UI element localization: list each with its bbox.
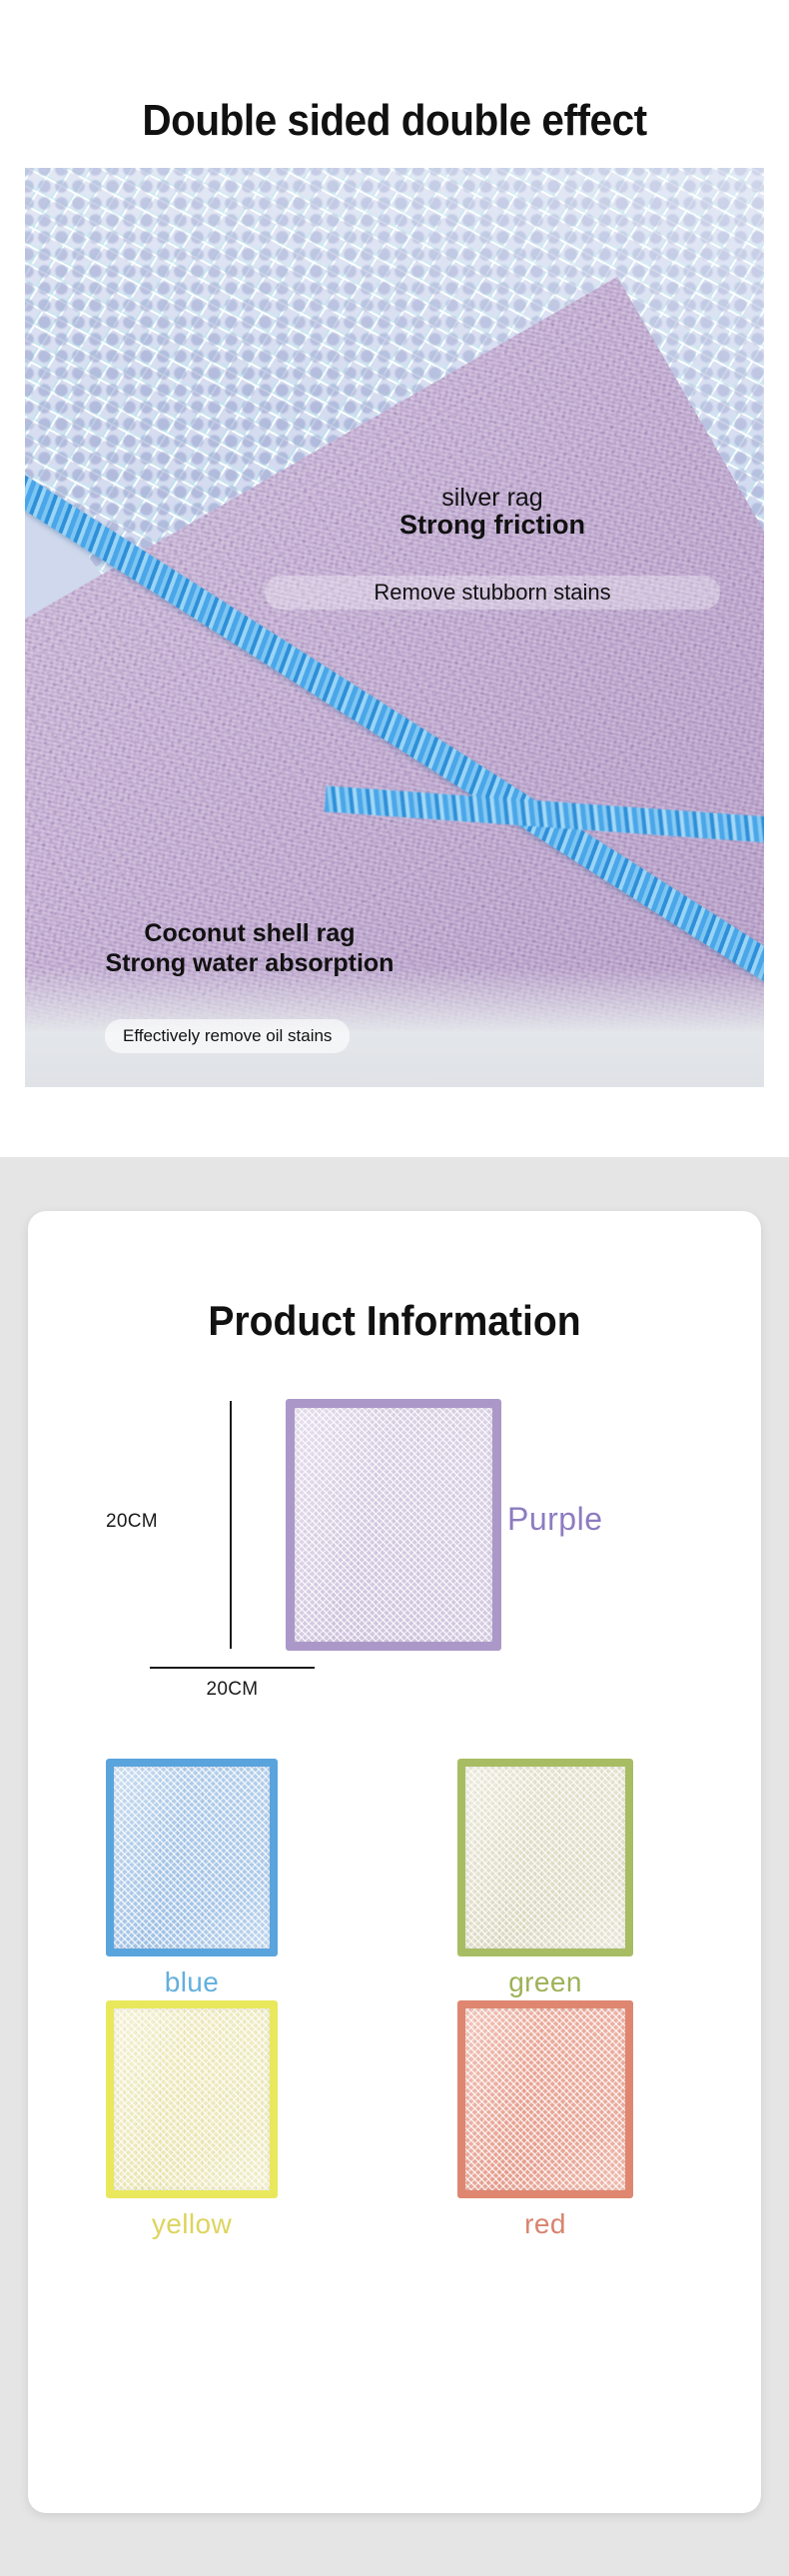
product-information-section: Product Information 20CM 20CM Purple blu… [0, 1157, 789, 2576]
overlay-strong-water-absorption: Strong water absorption [47, 949, 452, 978]
swatch-yellow[interactable] [106, 2000, 278, 2198]
swatch-blue[interactable] [106, 1759, 278, 1956]
dimension-width-label: 20CM [150, 1679, 315, 1701]
product-hero-photo: silver rag Strong friction Remove stubbo… [25, 168, 764, 1087]
hero-section: Double sided double effect silver rag St… [0, 0, 789, 1157]
swatch-label-red: red [457, 2208, 633, 2240]
swatch-border [457, 1759, 633, 1956]
dimension-horizontal-rule [150, 1667, 315, 1669]
product-information-card: Product Information 20CM 20CM Purple blu… [28, 1211, 761, 2513]
swatch-purple[interactable] [286, 1399, 501, 1651]
swatch-green[interactable] [457, 1759, 633, 1956]
hero-title: Double sided double effect [32, 96, 758, 146]
swatch-label-green: green [457, 1966, 633, 1998]
dimension-height-label: 20CM [106, 1511, 158, 1533]
swatch-border [457, 2000, 633, 2198]
overlay-coconut-shell-rag: Coconut shell rag [55, 919, 444, 948]
swatch-label-blue: blue [106, 1966, 278, 1998]
swatch-border [106, 2000, 278, 2198]
swatch-border [106, 1759, 278, 1956]
product-information-title: Product Information [54, 1297, 736, 1345]
swatch-border [286, 1399, 501, 1651]
overlay-silver-rag: silver rag [283, 484, 702, 513]
overlay-remove-stubborn-stains: Remove stubborn stains [265, 576, 720, 610]
overlay-effectively-remove-oil-stains: Effectively remove oil stains [105, 1019, 350, 1053]
overlay-strong-friction: Strong friction [283, 510, 702, 541]
swatch-label-yellow: yellow [106, 2208, 278, 2240]
swatch-red[interactable] [457, 2000, 633, 2198]
dimension-vertical-rule [230, 1401, 232, 1649]
swatch-label-purple: Purple [507, 1501, 603, 1538]
